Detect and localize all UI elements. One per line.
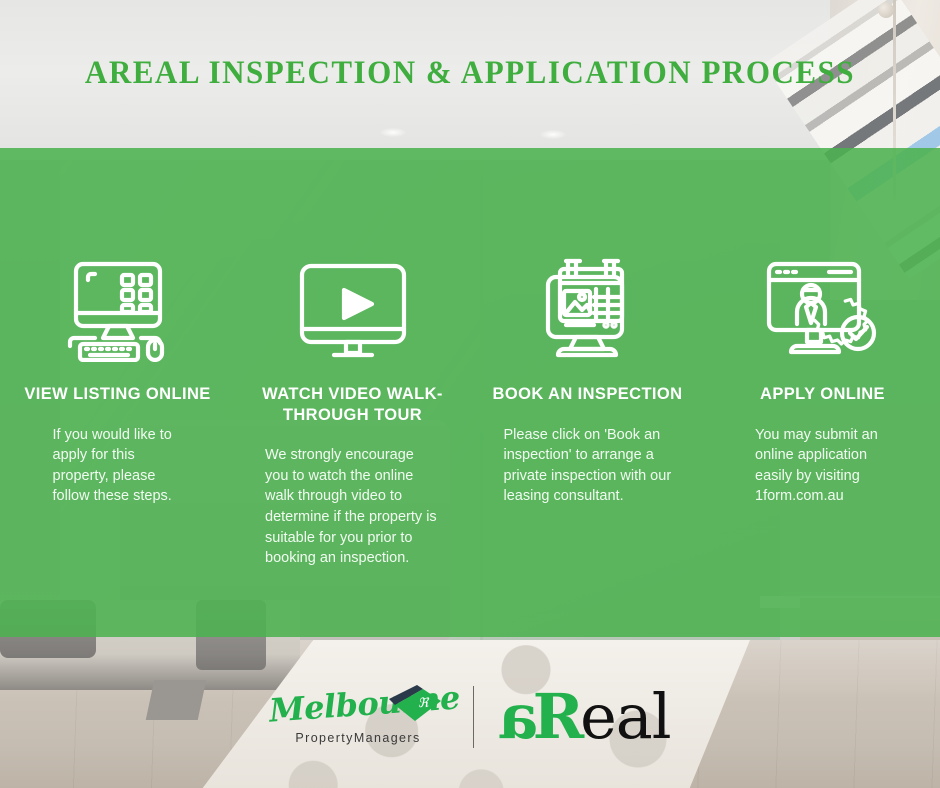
infographic-poster: AREAL INSPECTION & APPLICATION PROCESS [0, 0, 940, 788]
logo-divider [473, 686, 474, 748]
step-apply-online: APPLY ONLINE You may submit an online ap… [705, 250, 940, 507]
step-title: WATCH VIDEO WALK-THROUGH TOUR [235, 384, 470, 425]
video-play-monitor-icon [294, 250, 412, 370]
step-title: VIEW LISTING ONLINE [24, 384, 210, 405]
areal-logo-r: R [533, 692, 585, 742]
step-body: You may submit an online application eas… [755, 425, 890, 507]
step-body: We strongly encourage you to watch the o… [265, 445, 440, 568]
page-title: AREAL INSPECTION & APPLICATION PROCESS [28, 55, 912, 92]
process-steps: VIEW LISTING ONLINE If you would like to… [0, 250, 940, 610]
step-book-an-inspection: BOOK AN INSPECTION Please click on 'Book… [470, 250, 705, 507]
areal-logo-a: a [498, 692, 538, 742]
ceiling-downlight-icon [540, 130, 566, 139]
step-title: APPLY ONLINE [760, 384, 885, 405]
roof-monogram-icon: ℜ [387, 685, 443, 727]
online-application-gear-icon [761, 250, 885, 370]
property-managers-subtitle: PropertyManagers [295, 731, 420, 745]
step-body: If you would like to apply for this prop… [53, 425, 183, 507]
blind-roller-icon [878, 2, 894, 18]
step-watch-video-walkthrough: WATCH VIDEO WALK-THROUGH TOUR We strongl… [235, 250, 470, 569]
areal-logo-eal: eal [580, 692, 670, 742]
desktop-listing-icon [64, 250, 172, 370]
step-body: Please click on 'Book an inspection' to … [504, 425, 672, 507]
step-title: BOOK AN INSPECTION [493, 384, 683, 405]
areal-logo: a R eal [498, 692, 670, 742]
calendar-booking-monitor-icon [530, 250, 646, 370]
step-view-listing-online: VIEW LISTING ONLINE If you would like to… [0, 250, 235, 507]
footer-logos: Melbourne PropertyManagers ℜ a R eal [0, 672, 940, 762]
roof-monogram-letter: ℜ [418, 696, 430, 711]
melbourne-property-managers-logo: Melbourne PropertyManagers ℜ [269, 679, 449, 755]
